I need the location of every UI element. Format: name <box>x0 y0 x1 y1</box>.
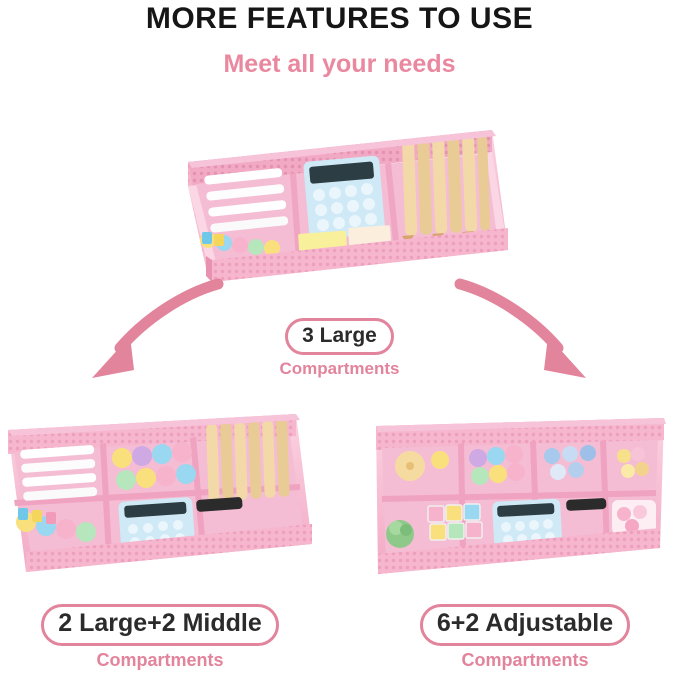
callout-top-subtitle: Compartments <box>248 359 431 379</box>
callout-bottom-right-title: 6+2 Adjustable <box>420 604 630 646</box>
callout-top-title: 3 Large <box>285 318 394 355</box>
callout-bottom-left-subtitle: Compartments <box>12 650 308 671</box>
page-title: MORE FEATURES TO USE <box>0 2 679 36</box>
product-feature-graphic: MORE FEATURES TO USE Meet all your needs <box>0 0 679 678</box>
arrow-down-right <box>452 278 592 383</box>
arrow-down-left <box>86 278 226 383</box>
product-image-bottom-left-tray <box>0 396 320 596</box>
callout-bottom-left-title: 2 Large+2 Middle <box>41 604 279 646</box>
callout-bottom-right-subtitle: Compartments <box>382 650 668 671</box>
product-image-bottom-right-tray <box>362 396 679 596</box>
top-tray-illustration <box>170 100 510 295</box>
callout-bottom-left: 2 Large+2 Middle Compartments <box>12 604 308 671</box>
callout-top: 3 Large Compartments <box>248 318 431 379</box>
product-image-top-tray <box>170 100 510 295</box>
bottom-left-tray-illustration <box>0 396 320 596</box>
page-subtitle: Meet all your needs <box>0 50 679 79</box>
callout-bottom-right: 6+2 Adjustable Compartments <box>382 604 668 671</box>
bottom-right-tray-illustration <box>362 396 679 596</box>
